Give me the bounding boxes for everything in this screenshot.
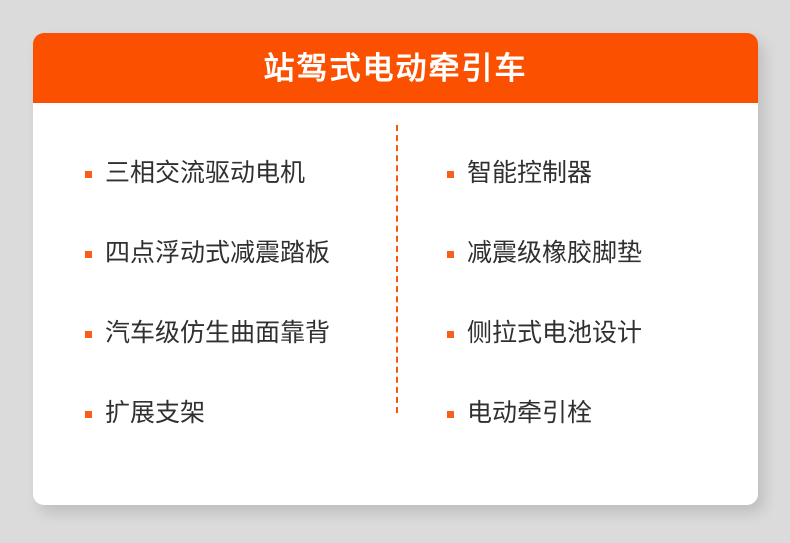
product-feature-card: 站驾式电动牵引车 三相交流驱动电机 四点浮动式减震踏板 汽车 [33, 33, 758, 505]
feature-columns: 三相交流驱动电机 四点浮动式减震踏板 汽车级仿生曲面靠背 扩展支架 [33, 103, 758, 453]
page-title: 站驾式电动牵引车 [264, 53, 528, 84]
bullet-square-icon [85, 331, 92, 338]
card-body: 三相交流驱动电机 四点浮动式减震踏板 汽车级仿生曲面靠背 扩展支架 [33, 103, 758, 505]
feature-label: 智能控制器 [467, 161, 592, 186]
list-item: 三相交流驱动电机 [85, 133, 396, 213]
bullet-square-icon [85, 411, 92, 418]
feature-label: 三相交流驱动电机 [105, 161, 305, 186]
list-item: 侧拉式电池设计 [447, 293, 758, 373]
bullet-square-icon [447, 331, 454, 338]
page-canvas: 站驾式电动牵引车 三相交流驱动电机 四点浮动式减震踏板 汽车 [0, 0, 790, 543]
feature-label: 四点浮动式减震踏板 [105, 241, 330, 266]
bullet-square-icon [447, 171, 454, 178]
feature-label: 扩展支架 [105, 401, 205, 426]
list-item: 扩展支架 [85, 373, 396, 453]
bullet-square-icon [85, 251, 92, 258]
bullet-square-icon [447, 411, 454, 418]
feature-label: 汽车级仿生曲面靠背 [105, 321, 330, 346]
list-item: 减震级橡胶脚垫 [447, 213, 758, 293]
feature-label: 减震级橡胶脚垫 [467, 241, 642, 266]
feature-label: 侧拉式电池设计 [467, 321, 642, 346]
list-item: 智能控制器 [447, 133, 758, 213]
bullet-square-icon [447, 251, 454, 258]
bullet-square-icon [85, 171, 92, 178]
card-header-banner: 站驾式电动牵引车 [33, 33, 758, 103]
feature-column-left: 三相交流驱动电机 四点浮动式减震踏板 汽车级仿生曲面靠背 扩展支架 [33, 103, 396, 453]
feature-label: 电动牵引栓 [467, 401, 592, 426]
list-item: 汽车级仿生曲面靠背 [85, 293, 396, 373]
list-item: 四点浮动式减震踏板 [85, 213, 396, 293]
list-item: 电动牵引栓 [447, 373, 758, 453]
feature-column-right: 智能控制器 减震级橡胶脚垫 侧拉式电池设计 电动牵引栓 [396, 103, 758, 453]
